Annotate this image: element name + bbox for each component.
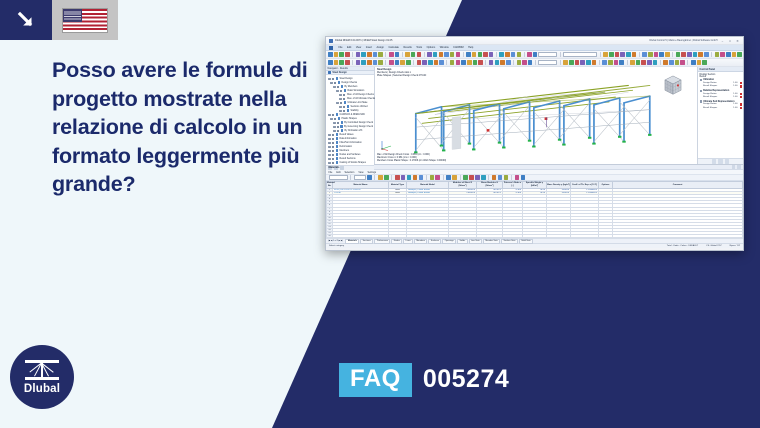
toolbar-icon[interactable] bbox=[469, 175, 474, 180]
check-icon bbox=[341, 129, 344, 132]
toolbar-icon[interactable] bbox=[614, 60, 619, 65]
color-swatch bbox=[740, 103, 742, 105]
toolbar-icon[interactable] bbox=[452, 175, 457, 180]
toolbar-dropdown[interactable] bbox=[563, 52, 597, 57]
toolbar-icon[interactable] bbox=[384, 175, 389, 180]
panel-close-icon[interactable] bbox=[737, 165, 740, 168]
toolbar-icon[interactable] bbox=[586, 60, 591, 65]
close-button[interactable]: ✕ bbox=[735, 39, 740, 43]
table-tab-surface-sets[interactable]: Surface Sets bbox=[501, 239, 518, 244]
tree-node-label: Ratio Simulation bbox=[348, 90, 365, 92]
toolbar-icon[interactable] bbox=[378, 52, 383, 57]
tree-checkbox[interactable] bbox=[334, 82, 337, 85]
nav-cube-icon[interactable] bbox=[661, 73, 685, 96]
section-label: Utilization bbox=[703, 79, 714, 81]
work-area: Navigator - Results Steel Design −Steel … bbox=[326, 67, 743, 164]
toolbar-icon[interactable] bbox=[528, 60, 533, 65]
nav-tool-icon-3[interactable] bbox=[340, 166, 344, 170]
cp-tool-icon-2[interactable] bbox=[718, 159, 722, 163]
toolbar-separator bbox=[446, 60, 447, 65]
toolbar-icon[interactable] bbox=[737, 52, 742, 57]
menu-item-tools[interactable]: Tools bbox=[416, 46, 422, 49]
toolbar-icon[interactable] bbox=[506, 60, 511, 65]
toolbar-icon[interactable] bbox=[446, 175, 451, 180]
table-tab-thicknesses[interactable]: Thicknesses bbox=[374, 239, 390, 244]
toolbar-icon[interactable] bbox=[411, 52, 416, 57]
tree-node-label: Stability bbox=[351, 110, 359, 112]
toolbar-icon[interactable] bbox=[466, 52, 471, 57]
toolbar-icon[interactable] bbox=[504, 175, 509, 180]
toolbar-icon[interactable] bbox=[395, 175, 400, 180]
folder-icon bbox=[344, 89, 347, 92]
toolbar-icon[interactable] bbox=[626, 52, 631, 57]
viewport-footer-line-3: Members Cross Plastic Shape : 0.17006 (c… bbox=[377, 160, 446, 163]
table-tab-member-sets[interactable]: Member Sets bbox=[483, 239, 500, 244]
toolbar-icon[interactable] bbox=[467, 60, 472, 65]
menu-item-file[interactable]: File bbox=[339, 46, 343, 49]
toolbar-icon[interactable] bbox=[417, 52, 422, 57]
toolbar-icon[interactable] bbox=[654, 52, 659, 57]
row-value: 1.00 bbox=[733, 82, 737, 84]
folder-icon bbox=[336, 141, 339, 144]
table-tab-nodes[interactable]: Nodes bbox=[391, 239, 402, 244]
tree-checkbox[interactable] bbox=[340, 102, 343, 105]
toolbar-icon[interactable] bbox=[704, 52, 709, 57]
toolbar-icon[interactable] bbox=[659, 52, 664, 57]
tree-checkbox[interactable] bbox=[337, 126, 340, 129]
tree-expander-icon[interactable]: − bbox=[333, 122, 336, 125]
menu-item-view[interactable]: View bbox=[356, 46, 361, 49]
tree-expander-icon[interactable]: − bbox=[328, 114, 331, 117]
tree-expander-icon[interactable]: − bbox=[328, 154, 331, 157]
table-column-header[interactable]: Coeff. of Th. Exp. α [1/°C] bbox=[571, 182, 599, 189]
toolbar-icon[interactable] bbox=[428, 60, 433, 65]
tree-node-label: Result Sections bbox=[340, 158, 356, 160]
tree-expander-icon[interactable]: − bbox=[328, 78, 331, 81]
tree-expander-icon[interactable]: − bbox=[339, 94, 342, 97]
faq-footer: FAQ 005274 bbox=[339, 363, 509, 397]
toolbar-icon[interactable] bbox=[615, 52, 620, 57]
table-column-header[interactable]: Material Type bbox=[389, 182, 407, 189]
folder-icon bbox=[336, 133, 339, 136]
toolbar-icon[interactable] bbox=[563, 60, 568, 65]
toolbar-icon[interactable] bbox=[732, 52, 737, 57]
table-column-header[interactable]: Poisson's Ratio ν [-] bbox=[503, 182, 523, 189]
control-panel-row: Result Shapes1.00 bbox=[700, 85, 742, 88]
toolbar-icon[interactable] bbox=[450, 52, 455, 57]
menu-item-options[interactable]: Options bbox=[427, 46, 436, 49]
toolbar-icon[interactable] bbox=[367, 60, 372, 65]
toolbar-icon[interactable] bbox=[602, 60, 607, 65]
tree-expander-icon[interactable]: − bbox=[330, 82, 333, 85]
toolbar-separator bbox=[627, 60, 628, 65]
table-menu-settings[interactable]: Settings bbox=[367, 171, 376, 174]
toolbar-icon[interactable] bbox=[422, 60, 427, 65]
row-key: Result Shapes bbox=[703, 96, 731, 98]
table-tab-solid-sets[interactable]: Solid Sets bbox=[519, 239, 533, 244]
tree-checkbox[interactable] bbox=[332, 162, 335, 165]
tree-checkbox[interactable] bbox=[337, 122, 340, 125]
toolbar-icon[interactable] bbox=[478, 60, 483, 65]
tree-checkbox[interactable] bbox=[337, 130, 340, 133]
tree-checkbox[interactable] bbox=[332, 78, 335, 81]
menu-item-cadbim[interactable]: CAD/BIM bbox=[453, 46, 463, 49]
table-column-header[interactable]: Shear Modulus G [N/mm²] bbox=[477, 182, 503, 189]
toolbar-icon[interactable] bbox=[430, 175, 435, 180]
toolbar-separator bbox=[639, 52, 640, 57]
toolbar-separator bbox=[391, 175, 392, 180]
toolbar-icon[interactable] bbox=[475, 175, 480, 180]
toolbar-icon[interactable] bbox=[434, 60, 439, 65]
table-tab-lines[interactable]: Lines bbox=[403, 239, 413, 244]
toolbar-separator bbox=[513, 60, 514, 65]
toolbar-icon[interactable] bbox=[345, 60, 350, 65]
title-bar: Dlubal RFEM 6.04.0071 | RFEM Steel Desig… bbox=[326, 37, 743, 45]
faq-label: FAQ bbox=[339, 363, 412, 397]
menu-item-assign[interactable]: Assign bbox=[376, 46, 384, 49]
toolbar-separator bbox=[352, 52, 353, 57]
toolbar-icon[interactable] bbox=[663, 60, 668, 65]
tree-checkbox[interactable] bbox=[332, 142, 335, 145]
folder-icon bbox=[336, 137, 339, 140]
cp-tool-icon-1[interactable] bbox=[712, 159, 716, 163]
toolbar-icon[interactable] bbox=[603, 52, 608, 57]
tree-checkbox[interactable] bbox=[332, 114, 335, 117]
toolbar-icon[interactable] bbox=[702, 60, 707, 65]
materials-table[interactable]: Material No.Material NameMaterial TypeMa… bbox=[326, 181, 743, 238]
toolbar-icon[interactable] bbox=[395, 60, 400, 65]
table-menu-view[interactable]: View bbox=[358, 171, 363, 174]
toolbar-icon[interactable] bbox=[406, 60, 411, 65]
tree-checkbox[interactable] bbox=[332, 154, 335, 157]
toolbar-separator bbox=[426, 175, 427, 180]
menu-item-window[interactable]: Window bbox=[440, 46, 449, 49]
table-column-header[interactable]: Modulus of Elast. E [N/mm²] bbox=[449, 182, 477, 189]
menu-item-results[interactable]: Results bbox=[403, 46, 411, 49]
toolbar-icon[interactable] bbox=[693, 52, 698, 57]
toolbar-icon[interactable] bbox=[334, 60, 339, 65]
navigator-title: Navigator - Results bbox=[328, 67, 348, 70]
row-key: Design Ratios bbox=[703, 103, 731, 105]
toolbar-dropdown[interactable] bbox=[329, 175, 348, 180]
toolbar-icon[interactable] bbox=[361, 52, 366, 57]
tree-node-label: CADINCO & RFEM-SDC bbox=[340, 114, 366, 116]
toolbar-separator bbox=[402, 52, 403, 57]
toolbar-icon[interactable] bbox=[456, 60, 461, 65]
toolbar-icon[interactable] bbox=[328, 52, 333, 57]
control-panel-body: Display Section Result UtilizationDesign… bbox=[698, 72, 743, 158]
toolbar-icon[interactable] bbox=[697, 60, 702, 65]
toolbar-icon[interactable] bbox=[400, 60, 405, 65]
toolbar-icon[interactable] bbox=[500, 60, 505, 65]
coordinate-axes-icon bbox=[380, 139, 394, 151]
section-expander-icon[interactable] bbox=[700, 100, 702, 102]
toolbar-icon[interactable] bbox=[489, 60, 494, 65]
toolbar-icon[interactable] bbox=[580, 60, 585, 65]
toolbar-separator bbox=[524, 52, 525, 57]
toolbar-separator bbox=[496, 52, 497, 57]
tree-expander-icon[interactable]: − bbox=[339, 106, 342, 109]
toolbar-icon[interactable] bbox=[647, 60, 652, 65]
color-swatch bbox=[740, 107, 742, 109]
table-column-header[interactable]: Material Name bbox=[333, 182, 389, 189]
tree-expander-icon[interactable]: − bbox=[328, 134, 331, 137]
model-viewport[interactable]: Steel Design Members | Design Check rati… bbox=[375, 67, 697, 164]
table-tab-surfaces[interactable]: Surfaces bbox=[428, 239, 441, 244]
folder-icon bbox=[336, 149, 339, 152]
toolbar-icon[interactable] bbox=[395, 52, 400, 57]
toolbar-separator bbox=[385, 60, 386, 65]
tree-expander-icon[interactable]: − bbox=[339, 98, 342, 101]
toolbar-icon[interactable] bbox=[444, 52, 449, 57]
tree-expander-icon[interactable]: − bbox=[333, 126, 336, 129]
toolbar-icon[interactable] bbox=[339, 52, 344, 57]
toolbar-icon[interactable] bbox=[499, 52, 504, 57]
toolbar-icon[interactable] bbox=[665, 52, 670, 57]
toolbar-icon[interactable] bbox=[619, 60, 624, 65]
toolbar-icon[interactable] bbox=[427, 52, 432, 57]
tree-expander-icon[interactable]: − bbox=[328, 162, 331, 165]
cp-tool-icon-3[interactable] bbox=[725, 159, 729, 163]
tree-checkbox[interactable] bbox=[334, 118, 337, 121]
table-tab-materials[interactable]: Materials bbox=[345, 239, 359, 244]
section-expander-icon[interactable] bbox=[700, 79, 702, 81]
tree-checkbox[interactable] bbox=[332, 134, 335, 137]
tree-expander-icon[interactable]: − bbox=[339, 110, 342, 113]
tree-checkbox[interactable] bbox=[343, 106, 346, 109]
tree-expander-icon[interactable]: − bbox=[328, 142, 331, 145]
toolbar-icon[interactable] bbox=[439, 52, 444, 57]
toolbar-icon[interactable] bbox=[569, 60, 574, 65]
toolbar-icon[interactable] bbox=[515, 175, 520, 180]
toolbar-icon[interactable] bbox=[726, 52, 731, 57]
tree-checkbox[interactable] bbox=[343, 98, 345, 101]
table-menu-selection[interactable]: Selection bbox=[344, 171, 354, 174]
toolbar-icon[interactable] bbox=[489, 52, 494, 57]
tree-expander-icon[interactable]: − bbox=[328, 158, 331, 161]
toolbar-icon[interactable] bbox=[456, 52, 461, 57]
section-expander-icon[interactable] bbox=[700, 90, 702, 92]
check-icon bbox=[347, 109, 350, 112]
toolbar-icon[interactable] bbox=[642, 52, 647, 57]
tree-expander-icon[interactable]: − bbox=[333, 86, 336, 89]
tree-expander-icon[interactable]: − bbox=[333, 130, 336, 133]
table-column-header[interactable]: Options bbox=[599, 182, 613, 189]
toolbar-icon[interactable] bbox=[517, 60, 522, 65]
tree-node-label: Casting of Stocks Shapes bbox=[340, 162, 366, 164]
toolbar-icon[interactable] bbox=[676, 52, 681, 57]
tree-expander-icon[interactable]: − bbox=[328, 146, 331, 149]
tree-node-label: Steel Design bbox=[340, 78, 353, 80]
toolbar-icon[interactable] bbox=[675, 60, 680, 65]
toolbar-separator bbox=[535, 60, 536, 65]
navigator-tab-steel-design[interactable]: Steel Design bbox=[332, 71, 346, 74]
toolbar-icon[interactable] bbox=[361, 60, 366, 65]
toolbar-separator bbox=[560, 52, 561, 57]
toolbar-icon[interactable] bbox=[463, 175, 468, 180]
toolbar-icon[interactable] bbox=[720, 52, 725, 57]
flag-graphic bbox=[62, 8, 108, 33]
table-header-row: Material No.Material NameMaterial TypeMa… bbox=[327, 182, 743, 189]
toolbar-dropdown[interactable] bbox=[538, 52, 557, 57]
toolbar-icon[interactable] bbox=[630, 60, 635, 65]
toolbar-icon[interactable] bbox=[653, 60, 658, 65]
table-menu-file[interactable]: File bbox=[329, 171, 333, 174]
table-tab-sections[interactable]: Sections bbox=[360, 239, 373, 244]
pin-icon[interactable] bbox=[732, 165, 735, 168]
toolbar-icon[interactable] bbox=[328, 60, 333, 65]
toolbar-icon[interactable] bbox=[680, 60, 685, 65]
toolbar-icon[interactable] bbox=[669, 60, 674, 65]
row-value: 1.00 bbox=[733, 107, 737, 109]
table-column-header[interactable]: Comment bbox=[613, 182, 743, 189]
toolbar-icon[interactable] bbox=[641, 60, 646, 65]
faq-number: 005274 bbox=[423, 365, 509, 394]
tree-checkbox[interactable] bbox=[337, 86, 340, 89]
tree-expander-icon[interactable]: − bbox=[328, 150, 331, 153]
menu-item-edit[interactable]: Edit bbox=[347, 46, 351, 49]
minimize-button[interactable]: − bbox=[720, 39, 725, 43]
toolbar-icon[interactable] bbox=[435, 175, 440, 180]
tree-checkbox[interactable] bbox=[332, 138, 335, 141]
toolbar-icon[interactable] bbox=[345, 52, 350, 57]
toolbar-icon[interactable] bbox=[481, 175, 486, 180]
tree-checkbox[interactable] bbox=[343, 94, 345, 97]
menu-item-help[interactable]: Help bbox=[468, 46, 473, 49]
toolbar-icon[interactable] bbox=[334, 52, 339, 57]
toolbar-icon[interactable] bbox=[417, 60, 422, 65]
menu-app-icon bbox=[329, 46, 333, 50]
toolbar-icon[interactable] bbox=[405, 52, 410, 57]
toolbar-icon[interactable] bbox=[527, 52, 532, 57]
toolbar-icon[interactable] bbox=[378, 60, 383, 65]
tree-expander-icon[interactable]: − bbox=[328, 138, 331, 141]
toolbar-icon[interactable] bbox=[505, 52, 510, 57]
tree-expander-icon[interactable]: − bbox=[336, 90, 339, 93]
folder-icon bbox=[338, 81, 341, 84]
toolbar-icon[interactable] bbox=[636, 60, 641, 65]
toolbar-icon[interactable] bbox=[367, 52, 372, 57]
table-column-header[interactable]: Mass Density ρ [kg/m³] bbox=[547, 182, 571, 189]
table-tab-members[interactable]: Members bbox=[414, 239, 427, 244]
tree-expander-icon[interactable]: − bbox=[330, 118, 333, 121]
toolbar-icon[interactable] bbox=[461, 60, 466, 65]
toolbar-icon[interactable] bbox=[517, 52, 522, 57]
toolbar-icon[interactable] bbox=[609, 52, 614, 57]
toolbar-icon[interactable] bbox=[473, 60, 478, 65]
toolbar-icon[interactable] bbox=[356, 52, 361, 57]
toolbar-icon[interactable] bbox=[492, 175, 497, 180]
toolbar-row-2 bbox=[326, 59, 743, 67]
tree-checkbox[interactable] bbox=[332, 146, 335, 149]
tree-checkbox[interactable] bbox=[343, 110, 346, 113]
toolbar-icon[interactable] bbox=[533, 52, 538, 57]
toolbar-icon[interactable] bbox=[648, 52, 653, 57]
toolbar-icon[interactable] bbox=[367, 175, 372, 180]
toolbar-dropdown[interactable] bbox=[538, 60, 557, 65]
toolbar-icon[interactable] bbox=[498, 175, 503, 180]
control-panel: Control Panel Display Section Result Uti… bbox=[697, 67, 743, 164]
toolbar-icon[interactable] bbox=[715, 52, 720, 57]
tree-node-label: Ultimate Limit State bbox=[348, 102, 368, 104]
toolbar-icon[interactable] bbox=[620, 52, 625, 57]
toolbar-dropdown[interactable] bbox=[354, 175, 366, 180]
toolbar-separator bbox=[485, 60, 486, 65]
toolbar-icon[interactable] bbox=[373, 60, 378, 65]
table-tab-openings[interactable]: Openings bbox=[442, 239, 456, 244]
toolbar-separator bbox=[672, 52, 673, 57]
tree-checkbox[interactable] bbox=[340, 90, 343, 93]
table-pager[interactable]: |◀ ◀ 1 of 2 ▶ ▶| bbox=[328, 240, 343, 242]
toolbar-icon[interactable] bbox=[389, 60, 394, 65]
toolbar-icon[interactable] bbox=[592, 60, 597, 65]
toolbar-icon[interactable] bbox=[681, 52, 686, 57]
check-icon bbox=[340, 125, 342, 128]
toolbar-icon[interactable] bbox=[478, 52, 483, 57]
toolbar-icon[interactable] bbox=[450, 60, 455, 65]
menu-item-calculate[interactable]: Calculate bbox=[389, 46, 399, 49]
toolbar-icon[interactable] bbox=[521, 175, 526, 180]
toolbar-icon[interactable] bbox=[413, 175, 418, 180]
table-column-header[interactable]: Material Model bbox=[407, 182, 449, 189]
toolbar-icon[interactable] bbox=[401, 175, 406, 180]
toolbar-icon[interactable] bbox=[407, 175, 412, 180]
toolbar-icon[interactable] bbox=[389, 52, 394, 57]
toolbar-icon[interactable] bbox=[511, 52, 516, 57]
toolbar-icon[interactable] bbox=[687, 52, 692, 57]
status-item-1: Total : Undo : Colors : DEFAULT bbox=[667, 245, 698, 247]
toolbar-icon[interactable] bbox=[433, 52, 438, 57]
tree-expander-icon[interactable]: − bbox=[336, 102, 339, 105]
toolbar-separator bbox=[687, 60, 688, 65]
toolbar-row-1 bbox=[326, 51, 743, 59]
toolbar-icon[interactable] bbox=[495, 60, 500, 65]
toolbar-icon[interactable] bbox=[632, 52, 637, 57]
maximize-button[interactable]: □ bbox=[728, 39, 733, 43]
navigator-panel: Navigator - Results Steel Design −Steel … bbox=[326, 67, 375, 164]
toolbar-icon[interactable] bbox=[373, 52, 378, 57]
toolbar-icon[interactable] bbox=[419, 175, 424, 180]
toolbar-icon[interactable] bbox=[439, 60, 444, 65]
toolbar-icon[interactable] bbox=[378, 175, 383, 180]
toolbar-icon[interactable] bbox=[698, 52, 703, 57]
toolbar-icon[interactable] bbox=[356, 60, 361, 65]
toolbar-icon[interactable] bbox=[691, 60, 696, 65]
tree-checkbox[interactable] bbox=[332, 150, 335, 153]
table-tab-solids[interactable]: Solids bbox=[457, 239, 467, 244]
control-panel-title: Control Panel bbox=[700, 68, 716, 71]
toolbar-icon[interactable] bbox=[472, 52, 477, 57]
app-icon bbox=[329, 39, 333, 43]
folder-icon bbox=[336, 145, 339, 148]
toolbar-icon[interactable] bbox=[608, 60, 613, 65]
control-panel-subtitle-2: Result bbox=[700, 76, 742, 78]
toolbar-icon[interactable] bbox=[339, 60, 344, 65]
table-column-header[interactable]: Specific Weight γ [kN/m³] bbox=[523, 182, 547, 189]
tree-checkbox[interactable] bbox=[332, 158, 335, 161]
table-menu-edit[interactable]: Edit bbox=[336, 171, 340, 174]
toolbar-separator bbox=[600, 52, 601, 57]
toolbar-icon[interactable] bbox=[522, 60, 527, 65]
row-value: 1.00 bbox=[733, 96, 737, 98]
table-tab-line-sets[interactable]: Line Sets bbox=[469, 239, 482, 244]
steel-design-icon bbox=[328, 71, 331, 74]
color-swatch bbox=[740, 96, 742, 98]
toolbar-icon[interactable] bbox=[575, 60, 580, 65]
table-panel: Materials File Edit Selection View Setti… bbox=[326, 164, 743, 248]
toolbar-icon[interactable] bbox=[483, 52, 488, 57]
menu-item-insert[interactable]: Insert bbox=[366, 46, 372, 49]
